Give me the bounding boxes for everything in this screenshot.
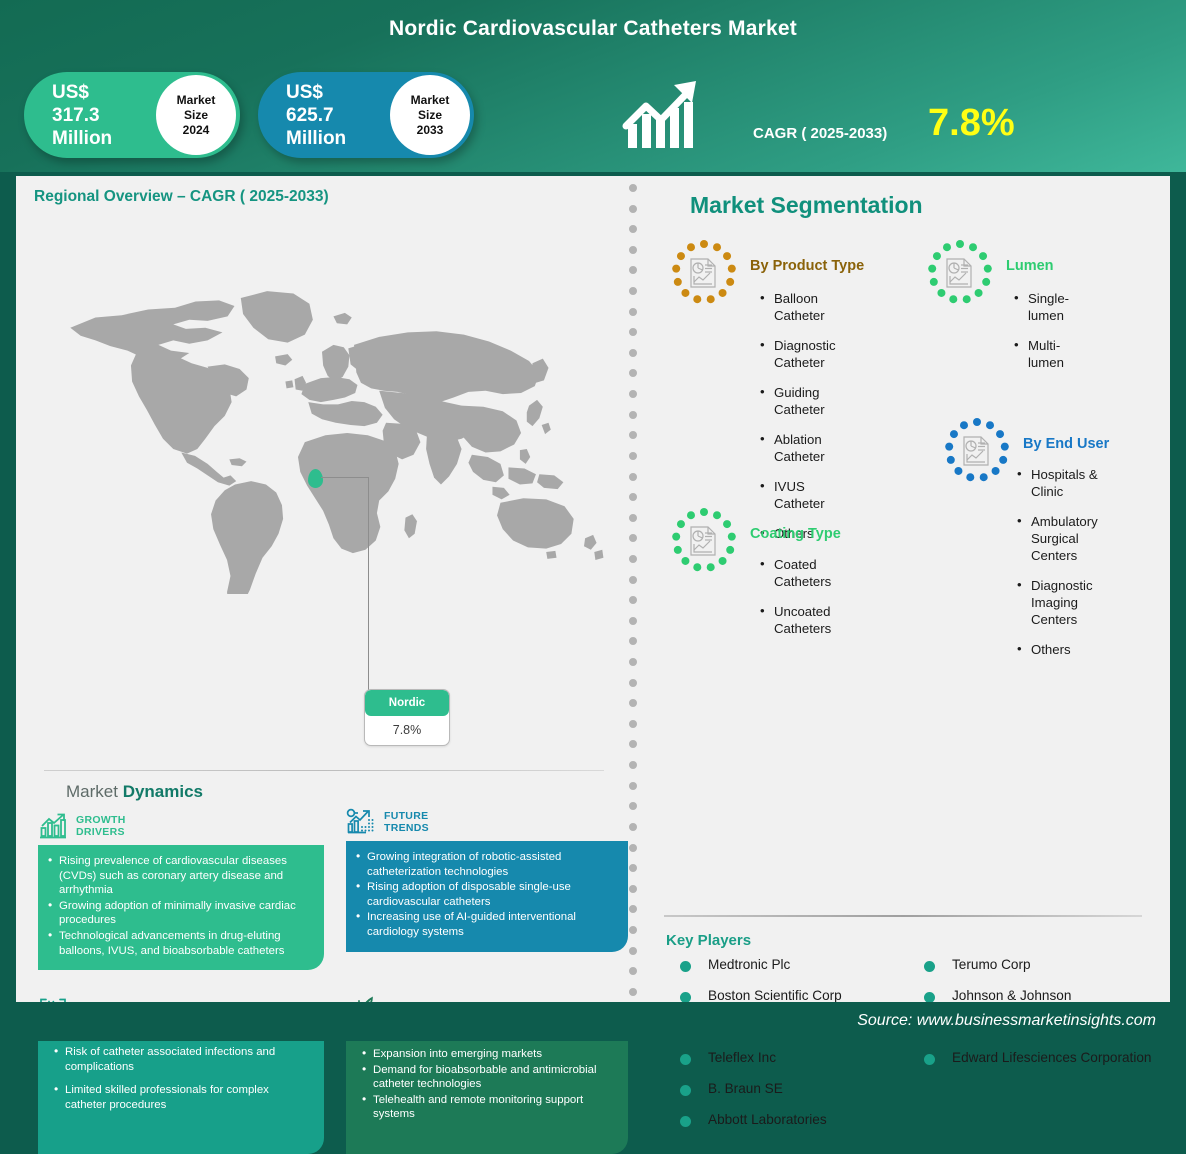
list-item: Technological advancements in drug-eluti… xyxy=(46,929,312,958)
growth-chart-arrow-icon xyxy=(38,812,68,840)
growth-drivers-header: GROWTH DRIVERS xyxy=(38,812,126,840)
divider-dot xyxy=(629,411,637,419)
divider-dot xyxy=(629,390,637,398)
market-size-2033-unit: Million xyxy=(286,128,346,149)
list-item: Risk of catheter associated infections a… xyxy=(52,1045,312,1074)
regional-overview-title: Regional Overview – CAGR ( 2025-2033) xyxy=(34,188,329,206)
right-column: Market Segmentation By Product Type Ball… xyxy=(638,176,1170,1002)
divider-dot xyxy=(629,947,637,955)
divider-dot xyxy=(629,679,637,687)
divider-dot xyxy=(629,617,637,625)
market-dynamics-divider xyxy=(44,770,604,771)
divider-dot xyxy=(629,514,637,522)
divider-dot xyxy=(629,369,637,377)
infographic-poster: Nordic Cardiovascular Catheters Market U… xyxy=(0,0,1186,1041)
opportunity-box: Expansion into emerging marketsDemand fo… xyxy=(346,1029,628,1154)
growth-drivers-list: Rising prevalence of cardiovascular dise… xyxy=(46,854,312,958)
segment-name-by-end-user: By End User xyxy=(1023,436,1109,452)
content-canvas: Regional Overview – CAGR ( 2025-2033) xyxy=(16,176,1170,1002)
world-map xyxy=(36,224,608,594)
list-item: Growing adoption of minimally invasive c… xyxy=(46,899,312,928)
market-size-2024-number: 317.3 xyxy=(52,105,100,126)
future-trends-box: Growing integration of robotic-assisted … xyxy=(346,841,628,952)
market-size-2033-badge: Market Size 2033 xyxy=(390,75,470,155)
cagr-label: CAGR ( 2025-2033) xyxy=(753,125,887,142)
key-player-item: Terumo Corp xyxy=(910,956,1160,974)
callout-region-label: Nordic xyxy=(365,690,449,716)
list-item: Ambulatory Surgical Centers xyxy=(1015,513,1098,564)
market-size-2024-currency: US$ xyxy=(52,82,89,103)
growth-drivers-label: GROWTH DRIVERS xyxy=(76,814,126,838)
market-dynamics-title-light: Market xyxy=(66,782,123,801)
divider-dot xyxy=(629,864,637,872)
list-item: Uncoated Catheters xyxy=(758,603,831,637)
key-player-item: Teleflex Inc xyxy=(666,1049,906,1067)
market-dynamics-title-bold: Dynamics xyxy=(123,782,203,801)
list-item: Coated Catheters xyxy=(758,556,831,590)
divider-dot xyxy=(629,534,637,542)
key-players-divider xyxy=(664,915,1142,917)
list-item: Guiding Catheter xyxy=(758,384,836,418)
key-players-column-left: Medtronic PlcBoston Scientific CorpBecto… xyxy=(666,956,906,1142)
market-size-2024-unit: Million xyxy=(52,128,112,149)
divider-dot xyxy=(629,926,637,934)
market-size-2033-number: 625.7 xyxy=(286,105,334,126)
market-size-2024-value: US$ 317.3 Million xyxy=(24,81,174,150)
list-item: Single-lumen xyxy=(1012,290,1069,324)
list-item: Limited skilled professionals for comple… xyxy=(52,1083,312,1112)
divider-dot xyxy=(629,782,637,790)
opportunity-list: Expansion into emerging marketsDemand fo… xyxy=(360,1047,616,1122)
report-document-chart-icon xyxy=(670,238,738,306)
report-document-chart-icon xyxy=(926,238,994,306)
restraints-box: Risk of catheter associated infections a… xyxy=(38,1029,324,1154)
key-player-item: B. Braun SE xyxy=(666,1080,906,1098)
divider-dot xyxy=(629,266,637,274)
divider-dot xyxy=(629,493,637,501)
future-trends-label: FUTURE TRENDS xyxy=(384,810,429,834)
market-size-2033-value: US$ 625.7 Million xyxy=(258,81,408,150)
report-document-chart-icon xyxy=(670,506,738,574)
divider-dot xyxy=(629,658,637,666)
market-segmentation-title: Market Segmentation xyxy=(690,192,923,219)
header-banner: Nordic Cardiovascular Catheters Market U… xyxy=(0,0,1186,172)
divider-dot xyxy=(629,287,637,295)
divider-dot xyxy=(629,576,637,584)
left-column: Regional Overview – CAGR ( 2025-2033) xyxy=(16,176,628,1002)
list-item: Ablation Catheter xyxy=(758,431,836,465)
list-item: Diagnostic Catheter xyxy=(758,337,836,371)
badge-line-1: Market xyxy=(177,93,216,108)
market-size-2033-pill: US$ 625.7 Million Market Size 2033 xyxy=(258,72,474,158)
badge-line-2: Size xyxy=(418,108,442,123)
divider-dot xyxy=(629,967,637,975)
callout-leader-line xyxy=(368,477,369,691)
divider-dot xyxy=(629,720,637,728)
divider-dot xyxy=(629,452,637,460)
key-player-item: Abbott Laboratories xyxy=(666,1111,906,1129)
nordic-callout: Nordic 7.8% xyxy=(364,689,450,746)
divider-dot xyxy=(629,184,637,192)
segment-name-by-product-type: By Product Type xyxy=(750,258,864,274)
divider-dot xyxy=(629,823,637,831)
divider-dot xyxy=(629,905,637,913)
divider-dot xyxy=(629,740,637,748)
list-item: Balloon Catheter xyxy=(758,290,836,324)
divider-dot xyxy=(629,225,637,233)
list-item: Growing integration of robotic-assisted … xyxy=(354,850,616,879)
market-size-2024-badge: Market Size 2024 xyxy=(156,75,236,155)
cagr-value: 7.8% xyxy=(928,104,1015,142)
segment-items-lumen: Single-lumenMulti-lumen xyxy=(1012,290,1069,384)
list-item: Rising prevalence of cardiovascular dise… xyxy=(46,854,312,898)
future-trends-header: FUTURE TRENDS xyxy=(346,808,429,836)
list-item: Multi-lumen xyxy=(1012,337,1069,371)
source-text: Source: www.businessmarketinsights.com xyxy=(857,1012,1156,1030)
badge-line-3: 2024 xyxy=(183,123,210,138)
segment-name-coating-type: Coating Type xyxy=(750,526,841,542)
list-item: Increasing use of AI-guided intervention… xyxy=(354,910,616,939)
list-item: Demand for bioabsorbable and antimicrobi… xyxy=(360,1063,616,1092)
callout-leader-horizontal xyxy=(321,477,369,478)
callout-cagr-value: 7.8% xyxy=(365,716,449,745)
map-pin-icon xyxy=(308,469,323,488)
divider-dot xyxy=(629,844,637,852)
badge-line-2: Size xyxy=(184,108,208,123)
badge-line-3: 2033 xyxy=(417,123,444,138)
list-item: Others xyxy=(1015,641,1098,658)
future-trends-list: Growing integration of robotic-assisted … xyxy=(354,850,616,940)
market-size-2033-currency: US$ xyxy=(286,82,323,103)
divider-dot xyxy=(629,885,637,893)
market-size-2024-pill: US$ 317.3 Million Market Size 2024 xyxy=(24,72,240,158)
divider-dot xyxy=(629,473,637,481)
divider-dot xyxy=(629,596,637,604)
growth-drivers-box: Rising prevalence of cardiovascular dise… xyxy=(38,845,324,970)
divider-dot xyxy=(629,349,637,357)
footer-bar: Source: www.businessmarketinsights.com xyxy=(0,1002,1186,1041)
segment-name-lumen: Lumen xyxy=(1006,258,1054,274)
divider-dot xyxy=(629,431,637,439)
market-dynamics-title: Market Dynamics xyxy=(66,782,203,802)
trend-forecast-chart-icon xyxy=(346,808,376,836)
divider-dot xyxy=(629,555,637,563)
list-item: Rising adoption of disposable single-use… xyxy=(354,880,616,909)
segment-items-coating-type: Coated CathetersUncoated Catheters xyxy=(758,556,831,650)
growth-arrow-bar-chart-icon xyxy=(620,76,710,156)
divider-dot xyxy=(629,802,637,810)
segment-items-by-product-type: Balloon CatheterDiagnostic CatheterGuidi… xyxy=(758,290,836,555)
list-item: Expansion into emerging markets xyxy=(360,1047,616,1062)
vertical-dotted-divider xyxy=(628,184,638,996)
divider-dot xyxy=(629,205,637,213)
restraints-list: Risk of catheter associated infections a… xyxy=(52,1045,312,1112)
key-players-title: Key Players xyxy=(666,932,751,949)
report-document-chart-icon xyxy=(943,416,1011,484)
segment-items-by-end-user: Hospitals & ClinicAmbulatory Surgical Ce… xyxy=(1015,466,1098,671)
list-item: Telehealth and remote monitoring support… xyxy=(360,1093,616,1122)
divider-dot xyxy=(629,637,637,645)
list-item: Hospitals & Clinic xyxy=(1015,466,1098,500)
divider-dot xyxy=(629,328,637,336)
list-item: IVUS Catheter xyxy=(758,478,836,512)
list-item: Diagnostic Imaging Centers xyxy=(1015,577,1098,628)
page-title: Nordic Cardiovascular Catheters Market xyxy=(0,17,1186,41)
divider-dot xyxy=(629,988,637,996)
divider-dot xyxy=(629,699,637,707)
key-player-item: Edward Lifesciences Corporation xyxy=(910,1049,1160,1067)
divider-dot xyxy=(629,308,637,316)
badge-line-1: Market xyxy=(411,93,450,108)
key-player-item: Medtronic Plc xyxy=(666,956,906,974)
divider-dot xyxy=(629,246,637,254)
divider-dot xyxy=(629,761,637,769)
